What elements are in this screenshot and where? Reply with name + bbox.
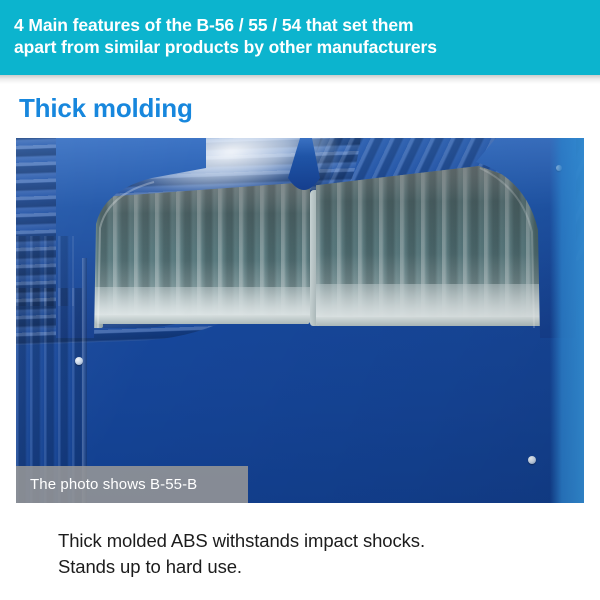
page-title: 4 Main features of the B-56 / 55 / 54 th… — [14, 14, 586, 58]
photo-caption-text: The photo shows B-55-B — [30, 476, 197, 494]
feature-page: 4 Main features of the B-56 / 55 / 54 th… — [0, 0, 600, 600]
header-band: 4 Main features of the B-56 / 55 / 54 th… — [0, 0, 600, 75]
product-photo: The photo shows B-55-B — [16, 138, 584, 503]
photo-sheen-overlay — [16, 138, 584, 503]
photo-caption: The photo shows B-55-B — [16, 466, 248, 503]
description-text: Thick molded ABS withstands impact shock… — [58, 528, 578, 580]
section-heading: Thick molding — [19, 92, 193, 124]
